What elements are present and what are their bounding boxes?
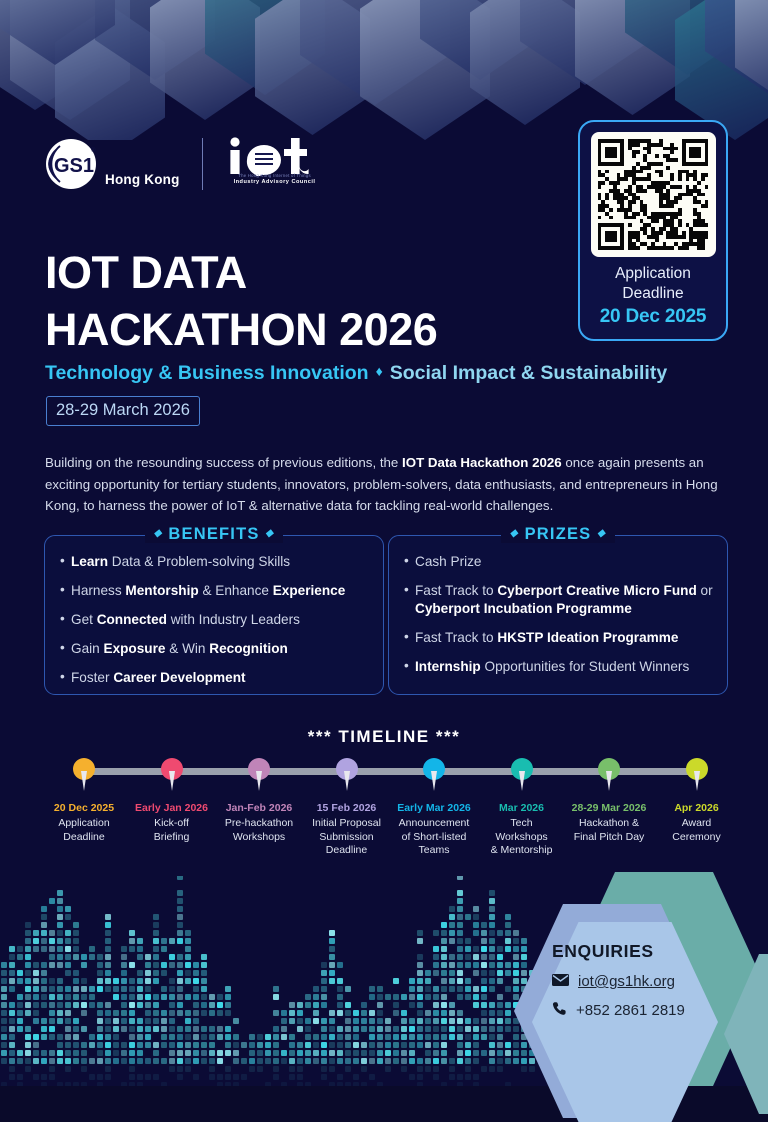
skyline-pixel — [233, 1042, 239, 1048]
skyline-pixel — [305, 1058, 311, 1064]
skyline-pixel — [137, 1002, 143, 1008]
skyline-pixel — [417, 1034, 423, 1040]
skyline-pixel — [89, 994, 95, 1000]
skyline-pixel — [313, 1042, 319, 1048]
skyline-pixel — [225, 1002, 231, 1008]
timeline-description: ApplicationDeadline — [42, 817, 126, 844]
skyline-pixel — [41, 986, 47, 992]
skyline-pixel — [185, 970, 191, 976]
skyline-pixel — [113, 994, 119, 1000]
skyline-pixel — [289, 1050, 295, 1056]
skyline-pixel — [49, 954, 55, 960]
skyline-pixel — [425, 994, 431, 1000]
skyline-pixel — [177, 1026, 183, 1032]
skyline-pixel — [393, 978, 399, 984]
benefits-list: Learn Data & Problem-solving SkillsHarne… — [45, 536, 383, 699]
skyline-pixel — [185, 930, 191, 936]
skyline-reflection-pixel — [1, 1082, 7, 1086]
skyline-pixel — [81, 1026, 87, 1032]
skyline-pixel — [41, 914, 47, 920]
skyline-pixel — [353, 1034, 359, 1040]
skyline-pixel — [441, 994, 447, 1000]
timeline-description: Announcementof Short-listedTeams — [392, 817, 476, 858]
skyline-pixel — [97, 1034, 103, 1040]
skyline-pixel — [449, 1010, 455, 1016]
skyline-pixel — [425, 978, 431, 984]
skyline-pixel — [417, 1026, 423, 1032]
skyline-pixel — [193, 1042, 199, 1048]
skyline-pixel — [465, 1042, 471, 1048]
skyline-pixel — [337, 1050, 343, 1056]
skyline-pixel — [153, 914, 159, 920]
skyline-pixel — [297, 1026, 303, 1032]
skyline-pixel — [465, 994, 471, 1000]
subtitle-theme-a: Technology & Business Innovation — [45, 362, 369, 384]
skyline-reflection-pixel — [9, 1066, 15, 1072]
skyline-pixel — [25, 946, 31, 952]
skyline-pixel — [161, 970, 167, 976]
skyline-pixel — [345, 1002, 351, 1008]
list-item: Internship Opportunities for Student Win… — [404, 658, 713, 676]
skyline-pixel — [329, 930, 335, 936]
skyline-pixel — [41, 970, 47, 976]
skyline-pixel — [393, 1058, 399, 1064]
skyline-pixel — [457, 962, 463, 968]
skyline-pixel — [313, 1018, 319, 1024]
skyline-pixel — [465, 1018, 471, 1024]
intro-part-1: Building on the resounding success of pr… — [45, 455, 402, 470]
skyline-pixel — [65, 946, 71, 952]
skyline-pixel — [129, 1018, 135, 1024]
list-item-text: Harness — [71, 583, 125, 598]
skyline-pixel — [305, 1026, 311, 1032]
skyline-pixel — [465, 1050, 471, 1056]
skyline-pixel — [137, 1018, 143, 1024]
skyline-pixel — [329, 978, 335, 984]
list-item-emphasis: Experience — [273, 583, 346, 598]
qr-code-image[interactable] — [591, 132, 716, 257]
skyline-pixel — [449, 906, 455, 912]
skyline-pixel — [321, 970, 327, 976]
skyline-pixel — [401, 1018, 407, 1024]
enquiries-email[interactable]: iot@gs1hk.org — [578, 973, 675, 990]
skyline-pixel — [89, 1034, 95, 1040]
skyline-pixel — [145, 986, 151, 992]
skyline-pixel — [41, 978, 47, 984]
skyline-pixel — [209, 1026, 215, 1032]
skyline-pixel — [201, 1034, 207, 1040]
skyline-pixel — [313, 1010, 319, 1016]
skyline-pixel — [57, 890, 63, 896]
skyline-pixel — [105, 1042, 111, 1048]
skyline-pixel — [449, 938, 455, 944]
list-item: Foster Career Development — [60, 669, 369, 687]
skyline-pixel — [417, 1002, 423, 1008]
skyline-pixel — [281, 1058, 287, 1064]
enquiries-email-row[interactable]: iot@gs1hk.org — [552, 973, 685, 990]
skyline-pixel — [33, 1010, 39, 1016]
skyline-pixel — [65, 970, 71, 976]
skyline-pixel — [97, 1026, 103, 1032]
skyline-pixel — [233, 1058, 239, 1064]
skyline-pixel — [329, 1010, 335, 1016]
top-hexagon-decoration — [0, 0, 768, 140]
skyline-pixel — [49, 962, 55, 968]
skyline-pixel — [385, 1058, 391, 1064]
skyline-pixel — [329, 1018, 335, 1024]
skyline-pixel — [193, 1058, 199, 1064]
skyline-pixel — [65, 914, 71, 920]
skyline-pixel — [57, 962, 63, 968]
skyline-pixel — [449, 970, 455, 976]
skyline-pixel — [217, 1050, 223, 1056]
skyline-pixel — [145, 1018, 151, 1024]
skyline-pixel — [25, 1034, 31, 1040]
skyline-pixel — [385, 1042, 391, 1048]
skyline-reflection-pixel — [217, 1074, 223, 1080]
skyline-pixel — [249, 1042, 255, 1048]
skyline-reflection-pixel — [465, 1066, 471, 1072]
skyline-pixel — [105, 986, 111, 992]
skyline-pixel — [297, 1010, 303, 1016]
skyline-pixel — [121, 1050, 127, 1056]
skyline-reflection-pixel — [257, 1066, 263, 1072]
skyline-pixel — [33, 962, 39, 968]
title-line-2: HACKATHON 2026 — [45, 302, 437, 359]
skyline-pixel — [17, 946, 23, 952]
skyline-pixel — [129, 946, 135, 952]
skyline-pixel — [89, 1042, 95, 1048]
skyline-reflection-pixel — [177, 1066, 183, 1072]
skyline-pixel — [425, 1050, 431, 1056]
skyline-pixel — [417, 1018, 423, 1024]
skyline-pixel — [137, 938, 143, 944]
skyline-pixel — [257, 1050, 263, 1056]
skyline-pixel — [33, 930, 39, 936]
skyline-pixel — [41, 946, 47, 952]
skyline-pixel — [73, 1018, 79, 1024]
skyline-pixel — [193, 986, 199, 992]
skyline-pixel — [465, 954, 471, 960]
skyline-pixel — [441, 922, 447, 928]
skyline-reflection-pixel — [97, 1082, 103, 1086]
skyline-pixel — [1, 1050, 7, 1056]
skyline-reflection-pixel — [233, 1074, 239, 1080]
skyline-pixel — [153, 970, 159, 976]
skyline-pixel — [329, 970, 335, 976]
skyline-pixel — [185, 1034, 191, 1040]
skyline-pixel — [441, 938, 447, 944]
skyline-reflection-pixel — [417, 1074, 423, 1080]
skyline-pixel — [65, 962, 71, 968]
skyline-pixel — [321, 1050, 327, 1056]
gs1-hongkong-logo: GS1 ® Hong Kong — [44, 137, 180, 191]
skyline-pixel — [185, 994, 191, 1000]
timeline-pin-icon — [511, 758, 533, 780]
skyline-pixel — [177, 978, 183, 984]
skyline-pixel — [49, 1018, 55, 1024]
skyline-pixel — [153, 962, 159, 968]
skyline-pixel — [9, 1058, 15, 1064]
skyline-pixel — [321, 994, 327, 1000]
skyline-reflection-pixel — [449, 1074, 455, 1080]
skyline-pixel — [121, 986, 127, 992]
skyline-pixel — [313, 994, 319, 1000]
skyline-pixel — [273, 1010, 279, 1016]
skyline-pixel — [297, 1058, 303, 1064]
skyline-pixel — [73, 1050, 79, 1056]
skyline-pixel — [105, 914, 111, 920]
timeline-description: Initial ProposalSubmissionDeadline — [305, 817, 389, 858]
list-item-emphasis: Connected — [97, 612, 167, 627]
skyline-pixel — [177, 986, 183, 992]
skyline-pixel — [417, 954, 423, 960]
skyline-pixel — [9, 1050, 15, 1056]
skyline-pixel — [289, 1042, 295, 1048]
skyline-pixel — [193, 1002, 199, 1008]
skyline-pixel — [89, 946, 95, 952]
skyline-pixel — [433, 994, 439, 1000]
skyline-pixel — [1, 970, 7, 976]
skyline-pixel — [129, 1010, 135, 1016]
skyline-reflection-pixel — [9, 1074, 15, 1080]
skyline-pixel — [401, 1026, 407, 1032]
skyline-pixel — [161, 1018, 167, 1024]
skyline-pixel — [49, 978, 55, 984]
skyline-pixel — [65, 1050, 71, 1056]
skyline-reflection-pixel — [273, 1066, 279, 1072]
skyline-pixel — [129, 994, 135, 1000]
skyline-pixel — [89, 1002, 95, 1008]
skyline-pixel — [57, 1058, 63, 1064]
skyline-pixel — [49, 986, 55, 992]
skyline-pixel — [409, 1002, 415, 1008]
skyline-pixel — [1, 994, 7, 1000]
skyline-pixel — [41, 938, 47, 944]
skyline-reflection-pixel — [289, 1074, 295, 1080]
skyline-pixel — [457, 876, 463, 880]
title-line-1: IOT DATA — [45, 245, 437, 302]
skyline-pixel — [33, 994, 39, 1000]
skyline-pixel — [465, 978, 471, 984]
skyline-pixel — [25, 938, 31, 944]
skyline-pixel — [57, 922, 63, 928]
skyline-pixel — [433, 962, 439, 968]
skyline-reflection-pixel — [305, 1082, 311, 1086]
skyline-pixel — [105, 938, 111, 944]
skyline-pixel — [305, 1050, 311, 1056]
skyline-pixel — [81, 1050, 87, 1056]
skyline-pixel — [9, 1042, 15, 1048]
qr-deadline-date: 20 Dec 2025 — [600, 306, 707, 328]
skyline-pixel — [201, 1058, 207, 1064]
skyline-pixel — [193, 1010, 199, 1016]
skyline-reflection-pixel — [225, 1074, 231, 1080]
timeline-date: Early Mar 2026 — [392, 802, 476, 814]
skyline-pixel — [361, 1018, 367, 1024]
skyline-pixel — [121, 970, 127, 976]
skyline-pixel — [217, 1010, 223, 1016]
skyline-reflection-pixel — [209, 1074, 215, 1080]
skyline-pixel — [73, 930, 79, 936]
skyline-pixel — [225, 1050, 231, 1056]
skyline-reflection-pixel — [161, 1082, 167, 1086]
skyline-pixel — [321, 1002, 327, 1008]
skyline-pixel — [65, 1042, 71, 1048]
skyline-pixel — [457, 1018, 463, 1024]
skyline-pixel — [185, 978, 191, 984]
skyline-reflection-pixel — [361, 1082, 367, 1086]
skyline-pixel — [65, 1002, 71, 1008]
skyline-reflection-pixel — [209, 1066, 215, 1072]
skyline-pixel — [145, 1058, 151, 1064]
skyline-pixel — [169, 1034, 175, 1040]
skyline-pixel — [41, 1034, 47, 1040]
skyline-reflection-pixel — [457, 1082, 463, 1086]
skyline-pixel — [177, 1050, 183, 1056]
skyline-pixel — [33, 1042, 39, 1048]
skyline-pixel — [41, 930, 47, 936]
skyline-pixel — [169, 1058, 175, 1064]
skyline-pixel — [81, 954, 87, 960]
skyline-pixel — [1, 1026, 7, 1032]
enquiries-phone-row[interactable]: +852 2861 2819 — [552, 1001, 685, 1020]
skyline-reflection-pixel — [137, 1074, 143, 1080]
skyline-pixel — [265, 1050, 271, 1056]
skyline-pixel — [329, 962, 335, 968]
skyline-pixel — [49, 930, 55, 936]
skyline-pixel — [401, 1058, 407, 1064]
phone-icon — [552, 1001, 567, 1020]
skyline-reflection-pixel — [17, 1074, 23, 1080]
skyline-pixel — [457, 922, 463, 928]
skyline-pixel — [369, 1050, 375, 1056]
skyline-pixel — [97, 962, 103, 968]
skyline-pixel — [233, 1018, 239, 1024]
skyline-pixel — [145, 1026, 151, 1032]
skyline-pixel — [401, 1042, 407, 1048]
skyline-reflection-pixel — [129, 1074, 135, 1080]
skyline-pixel — [297, 1042, 303, 1048]
skyline-reflection-pixel — [33, 1074, 39, 1080]
skyline-pixel — [457, 898, 463, 904]
skyline-reflection-pixel — [81, 1066, 87, 1072]
skyline-pixel — [409, 986, 415, 992]
skyline-pixel — [169, 994, 175, 1000]
skyline-pixel — [441, 1058, 447, 1064]
skyline-pixel — [89, 986, 95, 992]
skyline-pixel — [9, 962, 15, 968]
skyline-reflection-pixel — [65, 1082, 71, 1086]
list-item-emphasis: Learn — [71, 554, 108, 569]
skyline-pixel — [137, 978, 143, 984]
skyline-pixel — [433, 1010, 439, 1016]
skyline-pixel — [417, 994, 423, 1000]
skyline-pixel — [153, 1042, 159, 1048]
skyline-pixel — [209, 994, 215, 1000]
skyline-reflection-pixel — [321, 1074, 327, 1080]
skyline-pixel — [25, 986, 31, 992]
skyline-pixel — [1, 1058, 7, 1064]
skyline-reflection-pixel — [49, 1074, 55, 1080]
skyline-pixel — [113, 1010, 119, 1016]
skyline-pixel — [49, 1010, 55, 1016]
skyline-pixel — [73, 1058, 79, 1064]
skyline-pixel — [441, 986, 447, 992]
skyline-pixel — [193, 994, 199, 1000]
skyline-pixel — [417, 986, 423, 992]
skyline-pixel — [9, 1002, 15, 1008]
skyline-pixel — [41, 962, 47, 968]
list-item-text: Data & Problem-solving Skills — [108, 554, 290, 569]
skyline-pixel — [17, 994, 23, 1000]
skyline-pixel — [105, 978, 111, 984]
skyline-pixel — [105, 1058, 111, 1064]
skyline-pixel — [433, 986, 439, 992]
iot-council-logo: The Hong Kong Internet of Things Industr… — [225, 136, 321, 192]
skyline-pixel — [73, 954, 79, 960]
skyline-pixel — [113, 1050, 119, 1056]
skyline-pixel — [353, 1050, 359, 1056]
skyline-pixel — [393, 1002, 399, 1008]
skyline-pixel — [377, 994, 383, 1000]
skyline-pixel — [81, 978, 87, 984]
skyline-pixel — [169, 954, 175, 960]
skyline-pixel — [81, 1058, 87, 1064]
skyline-pixel — [369, 1034, 375, 1040]
skyline-pixel — [201, 954, 207, 960]
skyline-reflection-pixel — [17, 1082, 23, 1086]
skyline-pixel — [105, 954, 111, 960]
timeline-description: Pre-hackathonWorkshops — [217, 817, 301, 844]
skyline-pixel — [97, 1010, 103, 1016]
skyline-pixel — [401, 1034, 407, 1040]
skyline-pixel — [345, 1018, 351, 1024]
skyline-pixel — [121, 1010, 127, 1016]
timeline-pin-icon — [336, 758, 358, 780]
skyline-pixel — [209, 1042, 215, 1048]
skyline-pixel — [361, 1042, 367, 1048]
skyline-pixel — [321, 986, 327, 992]
skyline-pixel — [201, 1042, 207, 1048]
skyline-reflection-pixel — [105, 1074, 111, 1080]
skyline-pixel — [457, 970, 463, 976]
skyline-reflection-pixel — [73, 1082, 79, 1086]
skyline-pixel — [17, 1018, 23, 1024]
skyline-pixel — [321, 962, 327, 968]
skyline-pixel — [97, 1002, 103, 1008]
skyline-pixel — [9, 1010, 15, 1016]
benefits-heading: ◆ BENEFITS ◆ — [45, 525, 383, 544]
envelope-icon — [552, 973, 569, 990]
skyline-pixel — [265, 1058, 271, 1064]
skyline-pixel — [345, 1010, 351, 1016]
skyline-reflection-pixel — [273, 1074, 279, 1080]
skyline-pixel — [89, 954, 95, 960]
skyline-reflection-pixel — [225, 1066, 231, 1072]
skyline-pixel — [329, 946, 335, 952]
skyline-reflection-pixel — [417, 1082, 423, 1086]
skyline-pixel — [457, 1010, 463, 1016]
skyline-pixel — [161, 994, 167, 1000]
skyline-pixel — [433, 1042, 439, 1048]
list-item-text: & Enhance — [199, 583, 273, 598]
skyline-pixel — [265, 1034, 271, 1040]
skyline-reflection-pixel — [137, 1082, 143, 1086]
skyline-pixel — [145, 954, 151, 960]
skyline-pixel — [329, 1058, 335, 1064]
intro-paragraph: Building on the resounding success of pr… — [45, 452, 725, 517]
